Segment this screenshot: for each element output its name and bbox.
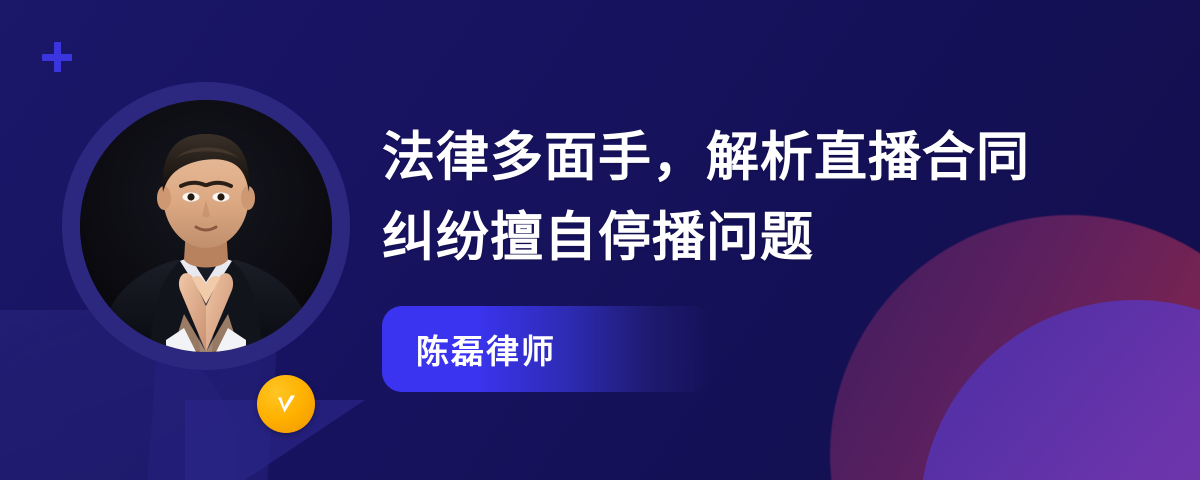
avatar-photo [80,100,332,352]
presenter-name-label: 陈磊律师 [416,325,556,373]
page-title: 法律多面手，解析直播合同纠纷擅自停播问题 [382,118,1072,278]
plus-icon [42,42,72,72]
promo-banner: 法律多面手，解析直播合同纠纷擅自停播问题 陈磊律师 [0,0,1200,480]
banner-content: 法律多面手，解析直播合同纠纷擅自停播问题 陈磊律师 [382,118,1142,392]
presenter-name-badge: 陈磊律师 [382,306,712,392]
avatar [62,82,350,370]
verified-check-icon [257,375,315,433]
